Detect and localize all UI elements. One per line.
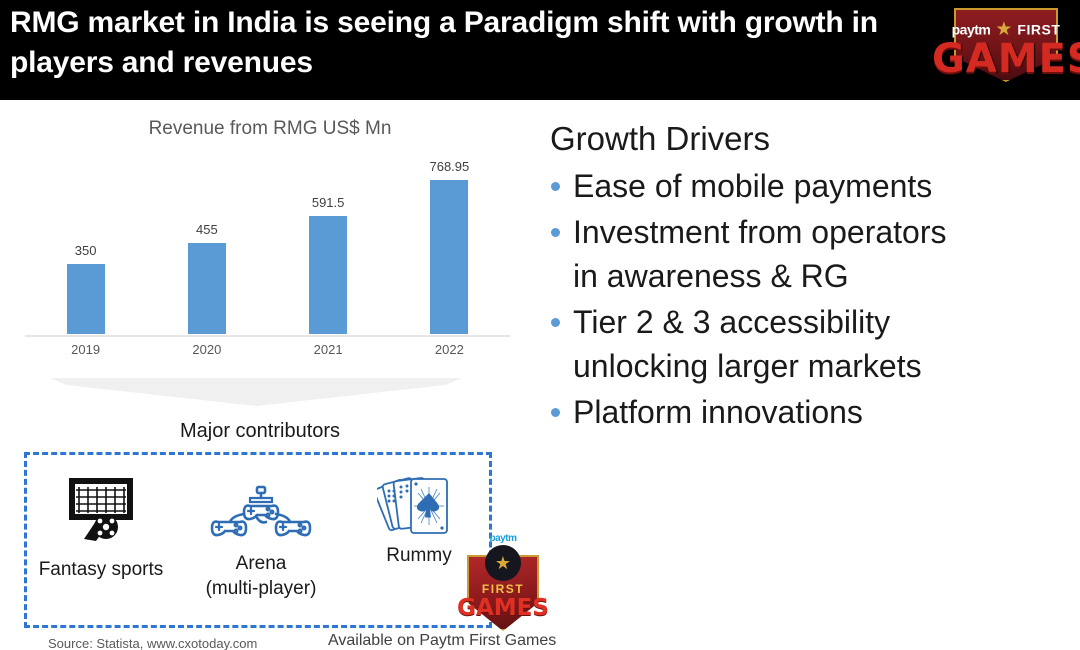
chevron-divider: [50, 378, 462, 406]
chart-bar-group: 591.5: [268, 154, 389, 334]
bullet-icon: [551, 318, 560, 327]
bullet-icon: [551, 408, 560, 417]
slide-header: RMG market in India is seeing a Paradigm…: [0, 0, 1080, 100]
chart-bar: [67, 264, 105, 334]
growth-driver-text: Investment from operators: [573, 210, 1065, 254]
source-note: Source: Statista, www.cxotoday.com: [48, 636, 257, 650]
growth-drivers-panel: Growth Drivers Ease of mobile paymentsIn…: [545, 118, 1065, 436]
paytm-first-games-logo: paytm★FIRST GAMES: [932, 4, 1080, 96]
bullet-icon: [551, 228, 560, 237]
chart-bar: [309, 216, 347, 334]
contributor-fantasy-sports[interactable]: Fantasy sports: [21, 455, 181, 625]
chart-bar-group: 768.95: [389, 154, 510, 334]
chart-category-label: 2020: [146, 342, 267, 357]
chart-bar: [188, 243, 226, 334]
contributor-arena[interactable]: Arena (multi-player): [181, 455, 341, 625]
paytm-first-games-badge: paytm ★ FIRST GAMES: [455, 533, 551, 637]
growth-drivers-heading: Growth Drivers: [545, 118, 1065, 160]
chart-category-label: 2019: [25, 342, 146, 357]
chart-bar-value-label: 591.5: [268, 195, 389, 210]
availability-note: Available on Paytm First Games: [328, 632, 556, 650]
chart-bar-value-label: 350: [25, 243, 146, 258]
contributors-box: Fantasy sports: [24, 452, 492, 628]
growth-driver-text-continued: unlocking larger markets: [573, 344, 1065, 388]
growth-driver-text: Ease of mobile payments: [573, 164, 1065, 208]
growth-driver-text: Tier 2 & 3 accessibility: [573, 300, 1065, 344]
bullet-icon: [551, 182, 560, 191]
chart-category-label: 2021: [268, 342, 389, 357]
contributor-label-line2: (multi-player): [171, 576, 351, 601]
growth-driver-item: Ease of mobile payments: [545, 164, 1065, 208]
badge-games-text: GAMES: [455, 595, 551, 621]
chart-bar-value-label: 768.95: [389, 159, 510, 174]
growth-driver-item: Tier 2 & 3 accessibilityunlocking larger…: [545, 300, 1065, 388]
chart-category-label: 2022: [389, 342, 510, 357]
chart-bar-group: 350: [25, 154, 146, 334]
badge-first-text: FIRST: [455, 582, 551, 596]
slide-canvas: RMG market in India is seeing a Paradigm…: [0, 0, 1080, 650]
gamepads-icon: [181, 471, 341, 547]
revenue-bar-chart: Revenue from RMG US$ Mn 350455591.5768.9…: [0, 104, 540, 364]
badge-star-icon: ★: [485, 545, 521, 581]
logo-games-text: GAMES: [932, 36, 1080, 82]
chart-bar-value-label: 455: [146, 222, 267, 237]
growth-drivers-list: Ease of mobile paymentsInvestment from o…: [545, 164, 1065, 434]
growth-driver-text-continued: in awareness & RG: [573, 254, 1065, 298]
contributor-label: Fantasy sports: [11, 557, 191, 582]
chart-x-axis: [25, 335, 510, 337]
page-title: RMG market in India is seeing a Paradigm…: [10, 3, 890, 83]
soccer-goal-icon: [21, 471, 181, 547]
contributors-title: Major contributors: [0, 420, 520, 443]
contributor-label-line1: Arena: [171, 551, 351, 576]
chart-title: Revenue from RMG US$ Mn: [0, 118, 540, 140]
badge-paytm-text: paytm: [455, 533, 551, 544]
chart-bar: [430, 180, 468, 334]
chart-plot-area: 350455591.5768.95: [25, 154, 510, 334]
chart-bar-group: 455: [146, 154, 267, 334]
growth-driver-text: Platform innovations: [573, 390, 1065, 434]
growth-driver-item: Investment from operatorsin awareness & …: [545, 210, 1065, 298]
growth-driver-item: Platform innovations: [545, 390, 1065, 434]
